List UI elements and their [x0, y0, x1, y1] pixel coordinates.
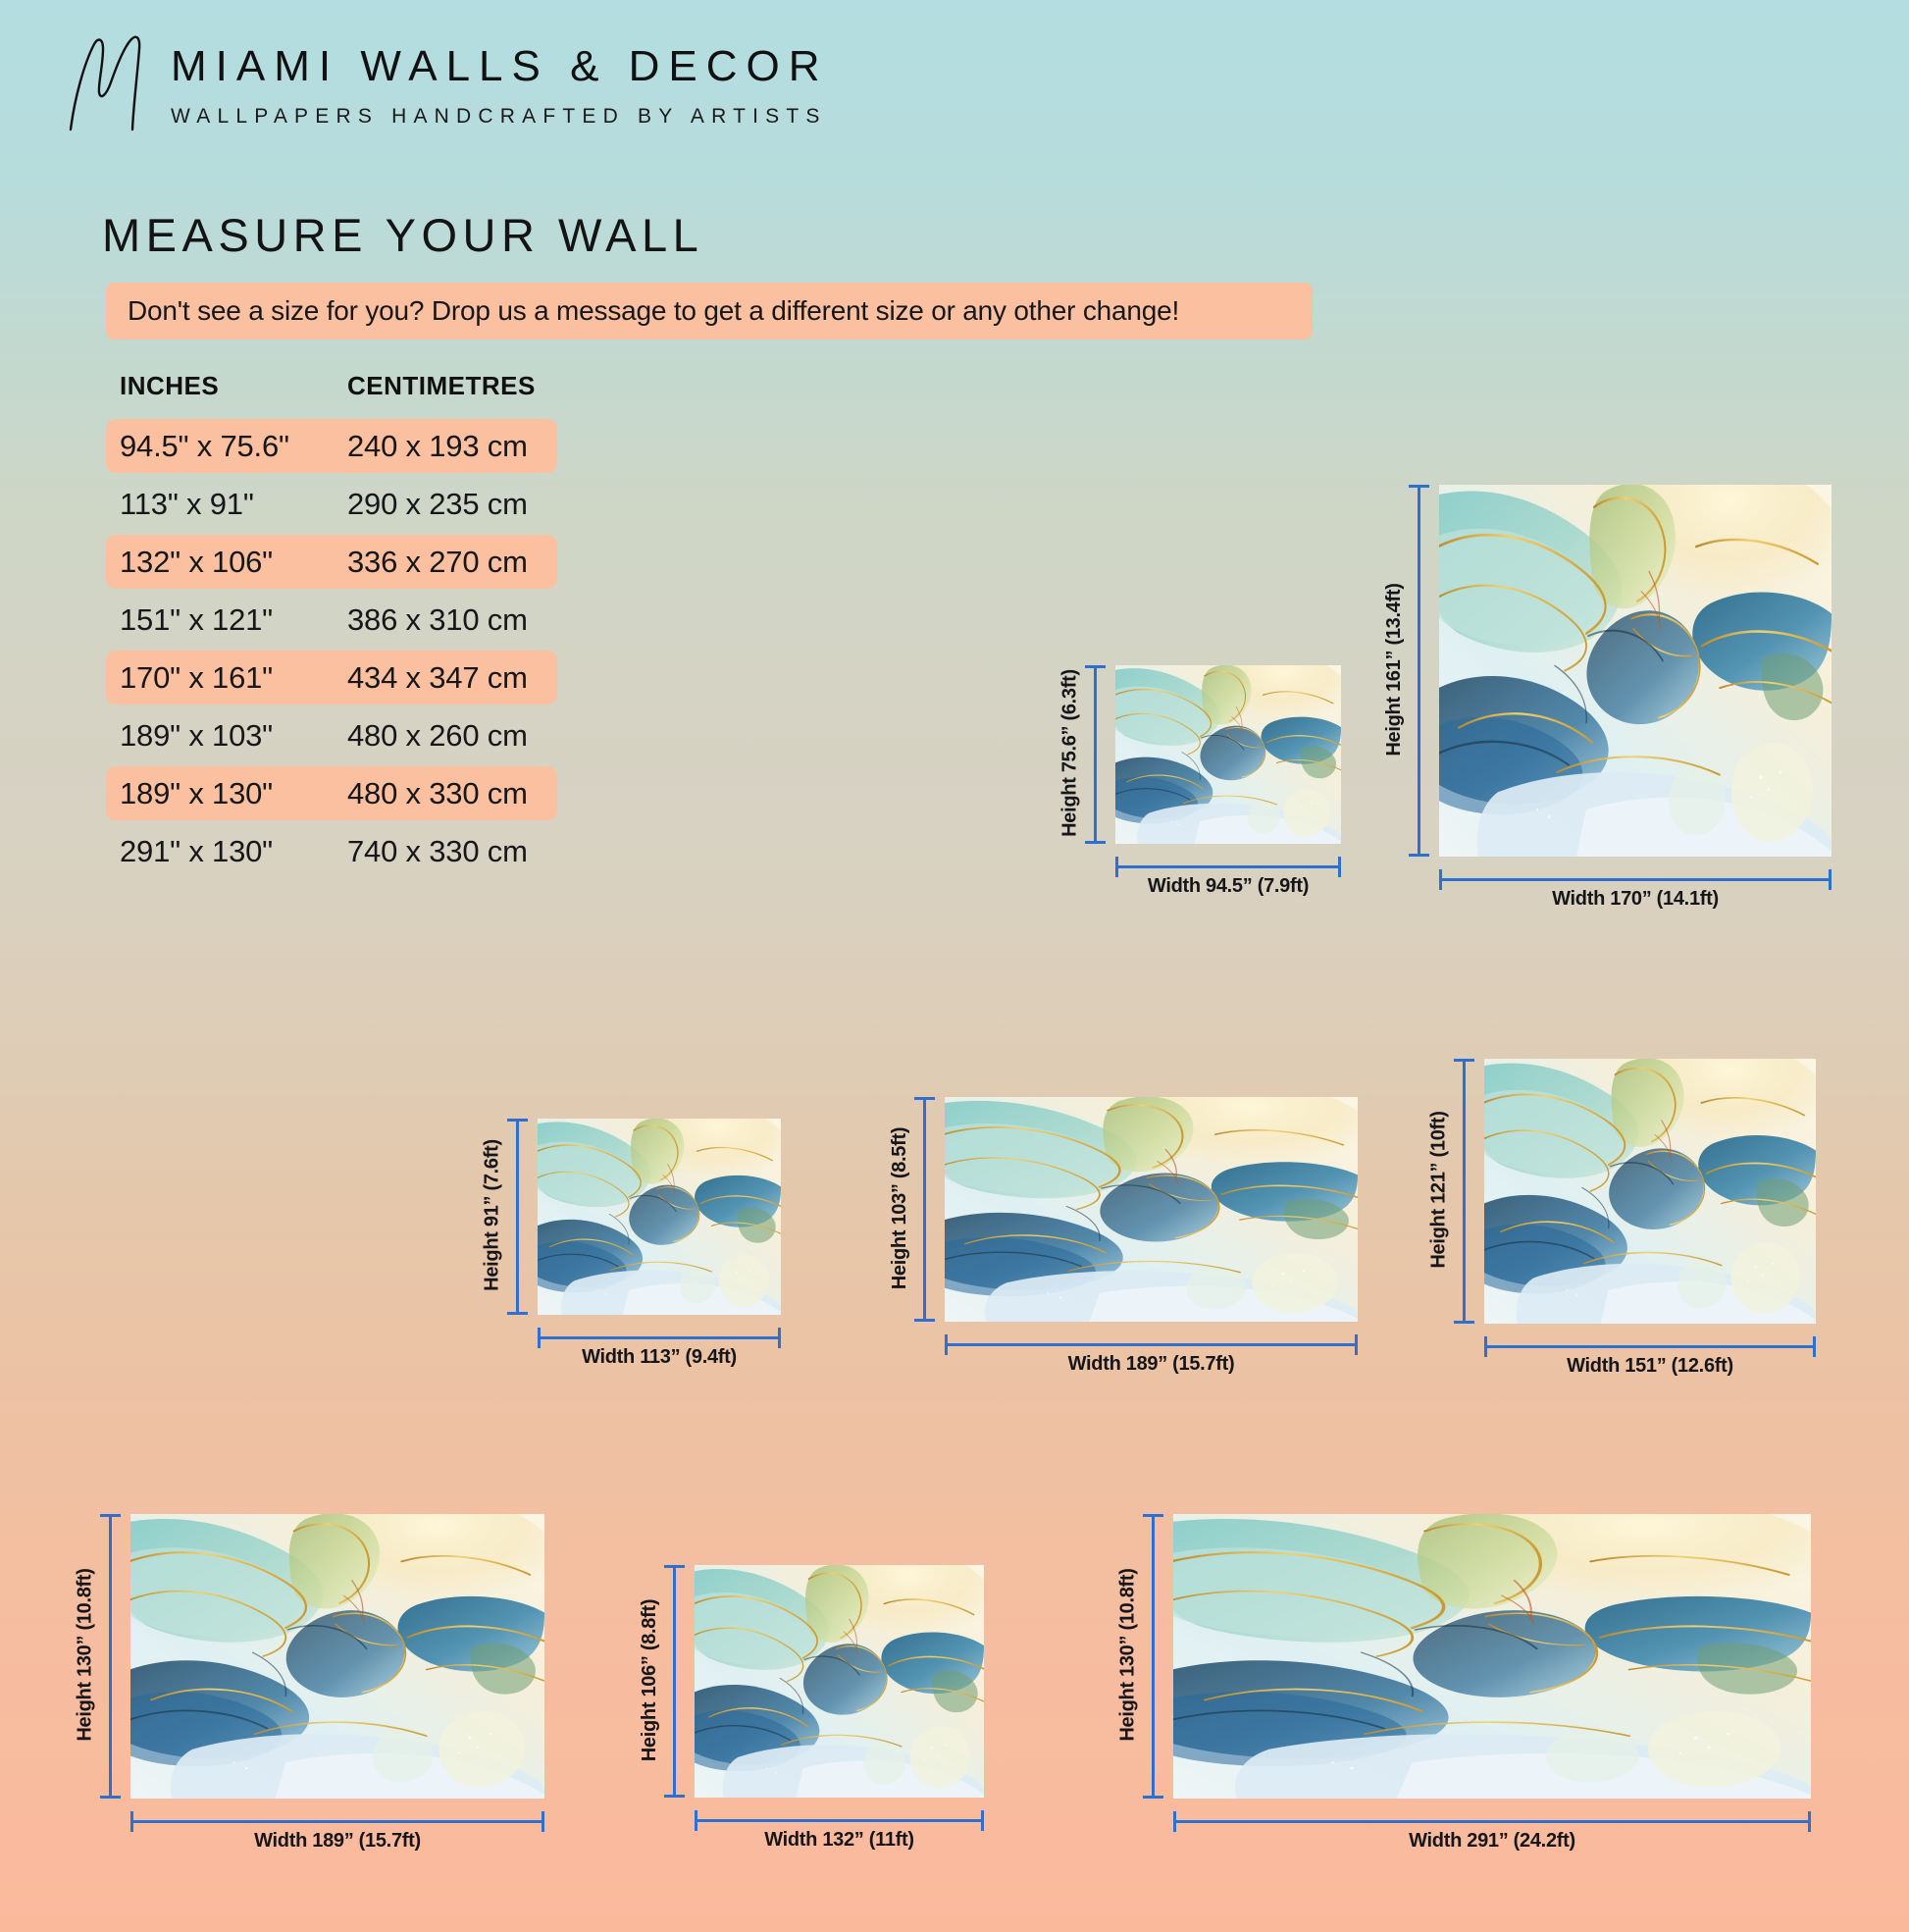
table-row[interactable]: 132" x 106"336 x 270 cm — [106, 535, 557, 589]
size-table: INCHES CENTIMETRES 94.5" x 75.6"240 x 19… — [106, 371, 557, 882]
preview-189x103: Height 103” (8.5ft)Width 189” (15.7ft) — [945, 1097, 1358, 1322]
height-dimension-line — [109, 1514, 112, 1799]
height-label: Height 75.6” (6.3ft) — [1059, 664, 1082, 843]
callout-banner: Don't see a size for you? Drop us a mess… — [106, 283, 1313, 339]
width-dimension-line — [945, 1343, 1358, 1346]
wallpaper-artwork — [1173, 1514, 1811, 1799]
column-header-centimetres: CENTIMETRES — [347, 371, 536, 401]
width-dimension-line — [538, 1336, 781, 1339]
cell-inches: 170" x 161" — [120, 660, 347, 696]
width-label: Width 189” (15.7ft) — [130, 1830, 544, 1853]
preview-113x91: Height 91” (7.6ft)Width 113” (9.4ft) — [538, 1119, 781, 1315]
height-label: Height 106” (8.8ft) — [639, 1564, 661, 1797]
table-row[interactable]: 291" x 130"740 x 330 cm — [106, 824, 557, 878]
width-label: Width 113” (9.4ft) — [538, 1346, 781, 1369]
wallpaper-artwork — [1115, 665, 1341, 844]
height-dimension-line — [923, 1097, 926, 1322]
brand-tagline: WALLPAPERS HANDCRAFTED BY ARTISTS — [171, 105, 829, 129]
height-label: Height 161” (13.4ft) — [1383, 484, 1406, 856]
table-header-row: INCHES CENTIMETRES — [106, 371, 557, 401]
width-label: Width 189” (15.7ft) — [945, 1353, 1358, 1376]
cell-centimetres: 434 x 347 cm — [347, 660, 528, 696]
cell-inches: 151" x 121" — [120, 602, 347, 638]
cell-centimetres: 290 x 235 cm — [347, 487, 528, 522]
column-header-inches: INCHES — [120, 371, 347, 401]
cell-inches: 94.5" x 75.6" — [120, 429, 347, 464]
table-row[interactable]: 189" x 103"480 x 260 cm — [106, 708, 557, 762]
width-dimension-line — [1115, 865, 1341, 868]
width-dimension-line — [130, 1820, 544, 1823]
wallpaper-artwork — [538, 1119, 781, 1315]
height-dimension-line — [1418, 485, 1420, 857]
width-dimension-line — [1439, 878, 1832, 881]
cell-inches: 132" x 106" — [120, 545, 347, 580]
preview-291x130: Height 130” (10.8ft)Width 291” (24.2ft) — [1173, 1514, 1811, 1799]
cell-centimetres: 240 x 193 cm — [347, 429, 528, 464]
cell-centimetres: 480 x 260 cm — [347, 718, 528, 754]
table-row[interactable]: 94.5" x 75.6"240 x 193 cm — [106, 419, 557, 473]
cell-inches: 291" x 130" — [120, 834, 347, 869]
preview-170x161: Height 161” (13.4ft)Width 170” (14.1ft) — [1439, 485, 1832, 857]
cell-centimetres: 480 x 330 cm — [347, 776, 528, 811]
cell-inches: 113" x 91" — [120, 487, 347, 522]
brand-header: MIAMI WALLS & DECOR WALLPAPERS HANDCRAFT… — [59, 27, 829, 135]
height-dimension-line — [1094, 665, 1097, 844]
cell-centimetres: 740 x 330 cm — [347, 834, 528, 869]
height-label: Height 130” (10.8ft) — [1117, 1513, 1140, 1798]
wallpaper-artwork — [1484, 1059, 1816, 1324]
height-label: Height 121” (10ft) — [1428, 1058, 1451, 1323]
script-m-monogram-icon — [59, 27, 157, 135]
wallpaper-artwork — [1439, 485, 1832, 857]
height-dimension-line — [1463, 1059, 1466, 1324]
brand-name: MIAMI WALLS & DECOR — [171, 42, 829, 91]
height-dimension-line — [516, 1119, 519, 1315]
width-label: Width 151” (12.6ft) — [1484, 1355, 1816, 1378]
preview-94-5x75-6: Height 75.6” (6.3ft)Width 94.5” (7.9ft) — [1115, 665, 1341, 844]
height-label: Height 130” (10.8ft) — [75, 1513, 97, 1798]
preview-189x130: Height 130” (10.8ft)Width 189” (15.7ft) — [130, 1514, 544, 1799]
width-dimension-line — [1484, 1345, 1816, 1348]
cell-centimetres: 336 x 270 cm — [347, 545, 528, 580]
cell-inches: 189" x 103" — [120, 718, 347, 754]
table-row[interactable]: 170" x 161"434 x 347 cm — [106, 651, 557, 705]
wallpaper-artwork — [695, 1565, 984, 1798]
height-dimension-line — [673, 1565, 676, 1798]
width-label: Width 94.5” (7.9ft) — [1115, 875, 1341, 898]
preview-151x121: Height 121” (10ft)Width 151” (12.6ft) — [1484, 1059, 1816, 1324]
width-label: Width 291” (24.2ft) — [1173, 1830, 1811, 1853]
height-label: Height 91” (7.6ft) — [482, 1118, 504, 1314]
width-label: Width 132” (11ft) — [695, 1829, 984, 1852]
table-row[interactable]: 113" x 91"290 x 235 cm — [106, 477, 557, 531]
wallpaper-artwork — [945, 1097, 1358, 1322]
cell-inches: 189" x 130" — [120, 776, 347, 811]
wallpaper-artwork — [130, 1514, 544, 1799]
table-row[interactable]: 151" x 121"386 x 310 cm — [106, 593, 557, 647]
width-dimension-line — [695, 1819, 984, 1822]
preview-132x106: Height 106” (8.8ft)Width 132” (11ft) — [695, 1565, 984, 1798]
height-dimension-line — [1152, 1514, 1155, 1799]
table-row[interactable]: 189" x 130"480 x 330 cm — [106, 766, 557, 820]
callout-text: Don't see a size for you? Drop us a mess… — [128, 295, 1179, 327]
cell-centimetres: 386 x 310 cm — [347, 602, 528, 638]
width-label: Width 170” (14.1ft) — [1439, 888, 1832, 911]
height-label: Height 103” (8.5ft) — [889, 1096, 911, 1321]
page-title: MEASURE YOUR WALL — [102, 208, 703, 262]
width-dimension-line — [1173, 1820, 1811, 1823]
